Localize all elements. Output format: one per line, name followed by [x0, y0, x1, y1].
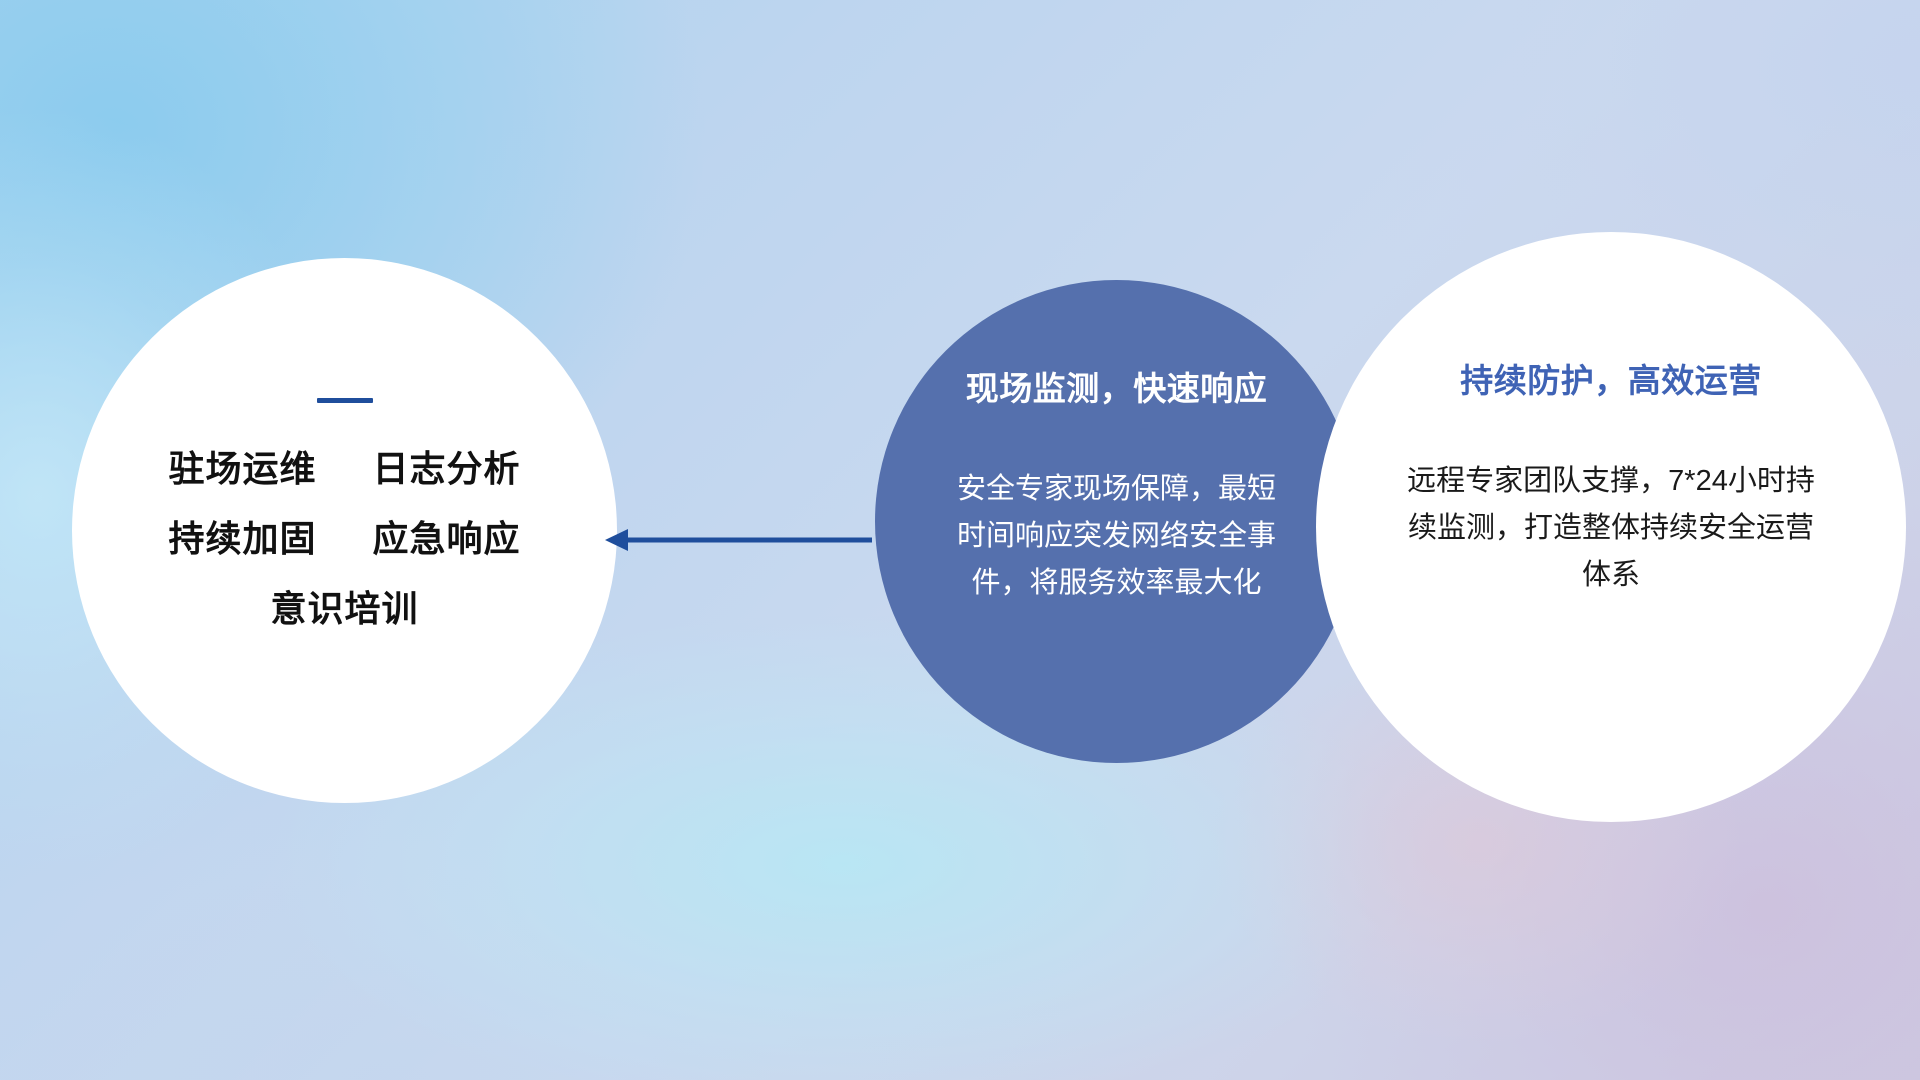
center-circle-heading: 现场监测，快速响应: [966, 362, 1268, 410]
left-circle-line-1: 驻场运维 日志分析: [168, 451, 520, 487]
right-circle-body-text: 远程专家团队支撑，7*24小时持续监测，打造整体持续安全运营体系: [1406, 458, 1816, 599]
left-circle-item-yingjixiangying: 应急响应: [373, 521, 521, 557]
left-circle-line-2: 持续加固 应急响应: [168, 521, 520, 557]
center-circle-body-text: 安全专家现场保障，最短时间响应突发网络安全事件，将服务效率最大化: [952, 466, 1282, 607]
slide-canvas: 驻场运维 日志分析 持续加固 应急响应 意识培训 现场监测，快速响应 安全专家现…: [0, 0, 1920, 1080]
right-circle-heading: 持续防护，高效运营: [1460, 354, 1762, 402]
left-circle-item-yishipeixun: 意识培训: [270, 591, 418, 627]
right-circle-content: 持续防护，高效运营 远程专家团队支撑，7*24小时持续监测，打造整体持续安全运营…: [1316, 232, 1906, 822]
left-circle-item-rizhifenxi: 日志分析: [373, 451, 521, 487]
center-circle-content: 现场监测，快速响应 安全专家现场保障，最短时间响应突发网络安全事件，将服务效率最…: [875, 280, 1358, 763]
left-circle-line-3: 意识培训: [270, 591, 418, 627]
left-circle-item-chixujiagu: 持续加固: [168, 521, 316, 557]
left-circle-item-zhuchangyunwei: 驻场运维: [168, 451, 316, 487]
arrow-head-icon: [605, 529, 628, 551]
left-circle-divider: [317, 398, 373, 403]
left-circle-content: 驻场运维 日志分析 持续加固 应急响应 意识培训: [72, 258, 617, 803]
left-arrow-connector: [600, 516, 875, 564]
